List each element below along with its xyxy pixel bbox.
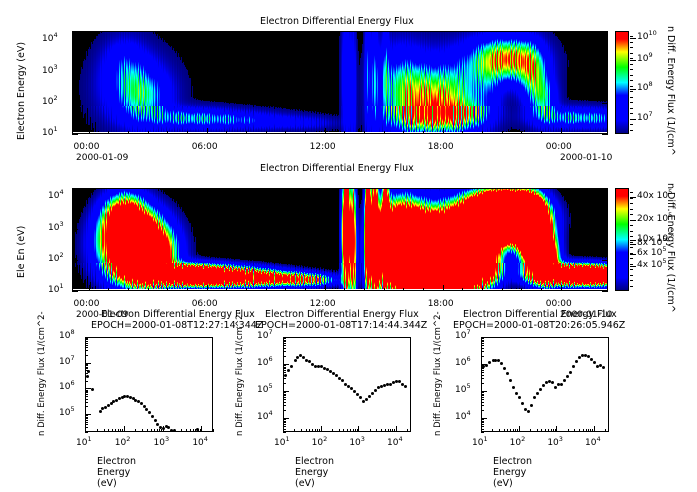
xtick-minor [561,288,562,291]
cbtick-minor [630,108,633,109]
data-point [365,398,368,401]
xtick-minor [513,429,514,432]
xtick-minor [592,429,593,432]
panel-middle-cbtick-0: 4x 105 [637,261,667,270]
ytick-minor [72,267,75,268]
cbtick-minor [630,91,633,92]
cbtick-minor [630,113,633,114]
xtick-minor [443,131,444,134]
panel-middle-xtick-0: 00:00 [74,300,100,309]
spectrum-2-title: Electron Differential Energy Flux [265,309,419,320]
spectrum-3-xtick-3: 104 [585,439,601,448]
ytick-minor [85,406,88,407]
spectrum-1-title: Electron Differential Energy Flux [101,309,255,320]
panel-top-date-right: 2000-01-10 [560,154,612,163]
cbtick-minor [630,69,633,70]
xtick-minor [541,131,542,134]
spectrum-3-ylabel: n Diff. Energy Flux (1/(cm^2- [433,311,443,436]
xtick-minor [309,429,310,432]
xtick-minor [381,429,382,432]
ytick-minor [85,364,88,365]
ytick-minor [85,396,88,397]
xtick-minor [353,429,354,432]
ytick-minor [283,341,286,342]
xtick-mark [396,426,397,432]
ytick-minor [481,421,484,422]
ytick-minor [85,424,88,425]
ytick-mark [602,134,608,135]
xtick-minor [384,131,385,134]
panel-top-frame [72,31,608,134]
panel-middle-colorbar-frame [615,188,629,291]
xtick-minor [246,131,247,134]
data-point [602,366,605,369]
xtick-minor [108,131,109,134]
xtick-minor [392,429,393,432]
ytick-minor [481,348,484,349]
xtick-minor [499,429,500,432]
xtick-minor [541,429,542,432]
ytick-mark [602,260,608,261]
xtick-mark [283,426,284,432]
ytick-minor [283,365,286,366]
xtick-minor [181,429,182,432]
ytick-minor [85,399,88,400]
ytick-minor [283,419,286,420]
ytick-minor [85,368,88,369]
xtick-minor [167,288,168,291]
xtick-minor [394,429,395,432]
xtick-minor [226,131,227,134]
ytick-minor [85,422,88,423]
cbtick-minor [630,236,633,237]
ytick-minor [85,338,88,339]
data-point [162,427,165,430]
ytick-minor [85,432,88,433]
ytick-minor [283,372,286,373]
data-point [398,380,401,383]
xtick-minor [355,429,356,432]
figure-root: Electron Differential Energy Flux Electr… [0,0,697,492]
ytick-minor [481,343,484,344]
cbtick-minor [630,64,633,65]
spectrum-1-xtick-2: 103 [154,439,170,448]
cbtick-minor [630,198,633,199]
ytick-minor [481,340,484,341]
ytick-minor [72,43,75,44]
ytick-minor [72,204,75,205]
panel-top-xtick-2: 12:00 [310,143,336,152]
panel-middle-ytick-1: 102 [48,255,64,264]
cbtick-minor [630,130,633,131]
ytick-minor [283,383,286,384]
xtick-minor [545,429,546,432]
xtick-minor [142,429,143,432]
cbtick-minor [630,269,633,270]
ytick-mark [602,103,608,104]
ytick-minor [72,42,75,43]
xtick-minor [541,288,542,291]
spectrum-2-ytick-3: 107 [257,332,273,341]
ytick-minor [85,339,88,340]
ytick-minor [283,399,286,400]
xtick-minor [403,131,404,134]
xtick-minor [115,429,116,432]
cbtick-minor [630,247,633,248]
panel-top-ylabel: Electron Energy (eV) [16,42,27,140]
xtick-minor [553,429,554,432]
ytick-minor [72,50,75,51]
ytick-minor [72,110,75,111]
ytick-minor [72,84,75,85]
xtick-minor [207,131,208,134]
cbtick-mark [630,38,636,39]
ytick-minor [283,394,286,395]
ytick-minor [72,76,75,77]
ytick-minor [283,410,286,411]
ytick-minor [72,57,75,58]
xtick-minor [193,429,194,432]
xtick-mark [519,426,520,432]
xtick-minor [537,429,538,432]
data-point [485,364,488,367]
spectrum-3-ytick-3: 107 [455,332,471,341]
xtick-minor [482,288,483,291]
xtick-minor [388,429,389,432]
ytick-minor [72,112,75,113]
spectrum-2-ytick-2: 106 [257,359,273,368]
spectrum-3-xtick-2: 103 [547,439,563,448]
ytick-minor [283,348,286,349]
cbtick-minor [630,253,633,254]
ytick-minor [72,106,75,107]
ytick-minor [72,119,75,120]
panel-top-cbtick-3: 1010 [637,33,657,42]
xtick-minor [306,429,307,432]
ytick-minor [283,397,286,398]
ytick-minor [283,345,286,346]
spectrum-1-ytick-2: 107 [59,358,75,367]
spectrum-3-title: Electron Differential Energy Flux [463,309,617,320]
ytick-minor [85,355,88,356]
ytick-minor [72,230,75,231]
xtick-minor [517,429,518,432]
ytick-minor [85,402,88,403]
xtick-minor [187,288,188,291]
panel-top-colorbar-frame [615,31,629,134]
ytick-minor [481,375,484,376]
xtick-minor [350,429,351,432]
xtick-minor [266,131,267,134]
ytick-minor [72,210,75,211]
xtick-minor [226,288,227,291]
ytick-minor [85,373,88,374]
cbtick-minor [630,75,633,76]
spectrum-3-xtick-1: 102 [510,439,526,448]
xtick-minor [154,429,155,432]
cbtick-minor [630,119,633,120]
ytick-mark [72,260,78,261]
ytick-mark [72,40,78,41]
cbtick-minor [630,36,633,37]
xtick-minor [135,429,136,432]
xtick-minor [568,429,569,432]
data-point [560,383,563,386]
xtick-minor [579,429,580,432]
panel-middle-cbtick-1: 6x 105 [637,249,667,258]
xtick-minor [551,429,552,432]
ytick-minor [481,383,484,384]
data-point [99,410,102,413]
cbtick-minor [630,280,633,281]
panel-top-title: Electron Differential Energy Flux [260,16,414,27]
spectrum-2-ytick-0: 104 [257,413,273,422]
xtick-minor [317,429,318,432]
ytick-minor [85,415,88,416]
xtick-minor [332,429,333,432]
panel-middle-ytick-2: 103 [48,224,64,233]
xtick-minor [305,288,306,291]
cbtick-mark [630,60,636,61]
spectrum-3-ytick-1: 105 [455,386,471,395]
ytick-mark [72,291,78,292]
cbtick-minor [630,214,633,215]
cbtick-minor [630,225,633,226]
xtick-minor [588,429,589,432]
xtick-minor [462,288,463,291]
xtick-minor [319,429,320,432]
data-point [563,379,566,382]
xtick-minor [385,429,386,432]
ytick-minor [481,341,484,342]
spectrum-2-subtitle: EPOCH=2000-01-08T17:14:44.344Z [255,320,427,331]
spectrum-2-ytick-1: 105 [257,386,273,395]
xtick-mark [556,426,557,432]
ytick-minor [72,125,75,126]
xtick-minor [104,429,105,432]
ytick-mark [72,103,78,104]
ytick-minor [72,115,75,116]
data-point [566,375,569,378]
ytick-minor [481,372,484,373]
xtick-minor [492,429,493,432]
spectrum-1-frame [85,337,213,432]
xtick-minor [187,131,188,134]
xtick-minor [574,429,575,432]
ytick-mark [602,197,608,198]
ytick-minor [481,402,484,403]
xtick-minor [97,429,98,432]
ytick-minor [72,282,75,283]
spectrum-2-ylabel: n Diff. Energy Flux (1/(cm^2- [235,311,245,436]
ytick-minor [72,88,75,89]
xtick-minor [586,429,587,432]
panel-top-ytick-0: 101 [42,129,58,138]
cbtick-mark [630,244,636,245]
ytick-minor [283,422,286,423]
ytick-minor [481,378,484,379]
ytick-mark [602,72,608,73]
xtick-minor [285,288,286,291]
xtick-minor [148,288,149,291]
ytick-minor [481,405,484,406]
panel-middle-xtick-1: 06:00 [192,300,218,309]
ytick-minor [481,422,484,423]
xtick-minor [462,131,463,134]
panel-top-xtick-0: 00:00 [74,143,100,152]
ytick-minor [72,269,75,270]
ytick-minor [85,418,88,419]
ytick-minor [72,31,75,32]
ytick-minor [481,351,484,352]
ytick-minor [283,338,286,339]
xtick-minor [325,288,326,291]
ytick-minor [72,62,75,63]
xtick-minor [344,131,345,134]
ytick-minor [72,232,75,233]
cbtick-minor [630,258,633,259]
panel-top-colorbar-label: n Diff. Energy Flux (1/(cm^ [665,26,676,156]
xtick-mark [481,426,482,432]
ytick-minor [481,370,484,371]
cbtick-minor [630,80,633,81]
xtick-mark [124,426,125,432]
ytick-mark [602,291,608,292]
xtick-minor [190,429,191,432]
ytick-minor [72,276,75,277]
xtick-minor [147,429,148,432]
ytick-minor [481,356,484,357]
ytick-mark [72,72,78,73]
ytick-minor [72,93,75,94]
spectrum-2-xtick-3: 104 [387,439,403,448]
ytick-minor [72,272,75,273]
ytick-minor [85,365,88,366]
xtick-minor [151,429,152,432]
ytick-minor [85,367,88,368]
panel-top-cbtick-2: 109 [637,55,653,64]
cbtick-minor [630,124,633,125]
ytick-minor [72,233,75,234]
data-point [86,375,89,378]
ytick-minor [72,47,75,48]
ytick-minor [72,263,75,264]
xtick-minor [443,288,444,291]
cbtick-minor [630,58,633,59]
ytick-minor [72,245,75,246]
ytick-minor [283,421,286,422]
panel-middle-colorbar-label: n Diff. Energy Flux (1/(cm^ [665,183,676,313]
cbtick-minor [630,264,633,265]
panel-middle-frame [72,188,608,291]
ytick-mark [72,229,78,230]
xtick-mark [85,426,86,432]
xtick-minor [482,131,483,134]
xtick-minor [89,288,90,291]
xtick-mark [201,426,202,432]
cbtick-minor [630,231,633,232]
ytick-mark [72,197,78,198]
ytick-minor [72,104,75,105]
xtick-minor [364,131,365,134]
xtick-minor [521,131,522,134]
xtick-minor [403,288,404,291]
spectrum-1-xtick-1: 102 [115,439,131,448]
ytick-minor [481,397,484,398]
spectrum-3-ytick-0: 104 [455,413,471,422]
ytick-minor [85,390,88,391]
spectrum-1-xtick-0: 101 [76,439,92,448]
ytick-minor [283,402,286,403]
ytick-minor [85,381,88,382]
xtick-minor [89,131,90,134]
panel-top-ytick-1: 102 [42,98,58,107]
ytick-minor [72,108,75,109]
xtick-minor [583,429,584,432]
data-point [569,371,572,374]
panel-top-date-left: 2000-01-09 [76,154,128,163]
ytick-minor [481,338,484,339]
spectrum-1-xtick-3: 104 [192,439,208,448]
xtick-minor [200,429,201,432]
data-point [91,388,94,391]
ytick-minor [481,345,484,346]
ytick-minor [481,424,484,425]
ytick-minor [72,250,75,251]
cbtick-mark [630,240,636,241]
xtick-minor [122,429,123,432]
spectrum-1-ytick-0: 105 [59,409,75,418]
xtick-minor [502,131,503,134]
panel-middle-ytick-3: 104 [48,192,64,201]
spectrum-2-xtick-1: 102 [312,439,328,448]
ytick-minor [283,351,286,352]
panel-middle-xtick-2: 12:00 [310,300,336,309]
cbtick-minor [630,86,633,87]
ytick-minor [72,199,75,200]
ytick-minor [283,370,286,371]
xtick-minor [521,288,522,291]
ytick-minor [481,394,484,395]
xtick-minor [407,429,408,432]
xtick-minor [148,131,149,134]
xtick-minor [344,288,345,291]
ytick-minor [72,75,75,76]
spectrum-2-xtick-0: 101 [274,439,290,448]
ytick-minor [72,238,75,239]
ytick-minor [283,356,286,357]
cbtick-mark [630,89,636,90]
xtick-minor [605,429,606,432]
ytick-minor [72,214,75,215]
xtick-minor [301,429,302,432]
cbtick-minor [630,242,633,243]
data-point [284,374,287,377]
xtick-minor [590,429,591,432]
cbtick-minor [630,42,633,43]
ytick-minor [283,405,286,406]
xtick-minor [515,429,516,432]
ytick-minor [85,341,88,342]
ytick-minor [283,395,286,396]
xtick-minor [357,429,358,432]
panel-top-cbtick-0: 107 [637,114,653,123]
ytick-minor [85,350,88,351]
cbtick-minor [630,47,633,48]
xtick-minor [159,429,160,432]
xtick-mark [594,426,595,432]
panel-middle-title: Electron Differential Energy Flux [260,163,414,174]
